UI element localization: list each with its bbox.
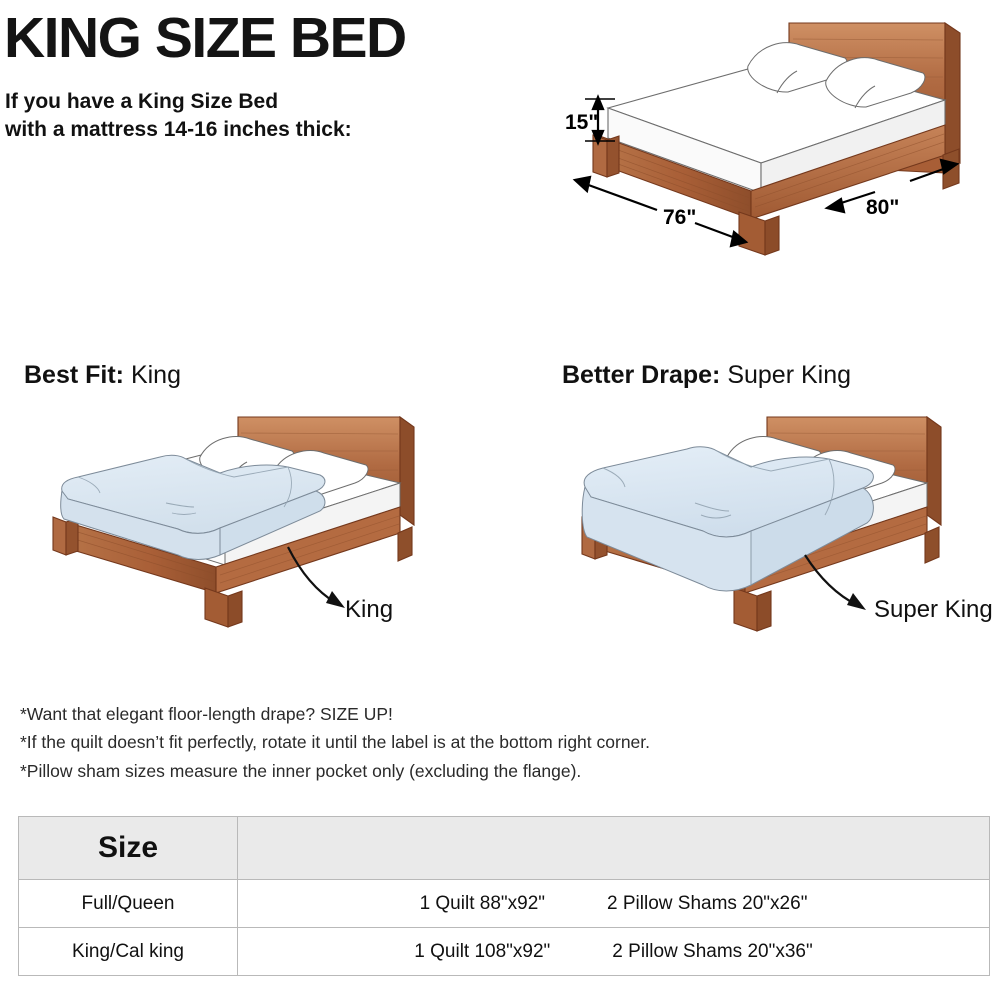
- hero-bed-illustration: [545, 5, 1000, 280]
- table-header-size-cell: Size: [19, 817, 238, 880]
- table-cell-size: King/Cal king: [19, 928, 238, 976]
- table-header-size-label: Size: [98, 831, 158, 864]
- size-chart-table: Size Full/Queen 1 Quilt 88"x92" 2 Pillow…: [18, 816, 990, 976]
- callout-label-super-king: Super King: [874, 596, 993, 624]
- king-bed-dimension-svg: [545, 5, 1000, 280]
- table-cell-size: Full/Queen: [19, 880, 238, 928]
- subtitle-line-2: with a mattress 14-16 inches thick:: [5, 116, 352, 144]
- table-cell-shams: 2 Pillow Shams 20"x26": [607, 893, 807, 915]
- footnote-item: *Want that elegant floor-length drape? S…: [20, 700, 650, 728]
- table-header-row: Size: [19, 817, 990, 880]
- best-fit-heading: Best Fit: King: [24, 363, 181, 388]
- footnote-item: *Pillow sham sizes measure the inner poc…: [20, 757, 650, 785]
- page-subtitle: If you have a King Size Bed with a mattr…: [5, 88, 352, 144]
- best-fit-label: Best Fit:: [24, 361, 124, 389]
- subtitle-line-1: If you have a King Size Bed: [5, 88, 352, 116]
- best-fit-value: King: [124, 361, 181, 389]
- table-cell-quilt: 1 Quilt 108"x92": [414, 941, 550, 963]
- table-row: King/Cal king 1 Quilt 108"x92" 2 Pillow …: [19, 928, 990, 976]
- better-drape-heading: Better Drape: Super King: [562, 363, 851, 388]
- table-cell-details: 1 Quilt 88"x92" 2 Pillow Shams 20"x26": [238, 880, 990, 928]
- best-fit-bed-illustration: [20, 395, 470, 640]
- page-title: KING SIZE BED: [4, 10, 406, 67]
- table-cell-details: 1 Quilt 108"x92" 2 Pillow Shams 20"x36": [238, 928, 990, 976]
- dimension-label-width: 76": [663, 206, 696, 230]
- better-drape-label: Better Drape:: [562, 361, 720, 389]
- better-drape-value: Super King: [720, 361, 851, 389]
- quilt-super-king: [582, 447, 873, 591]
- dimension-label-depth: 80": [866, 196, 899, 220]
- table-cell-shams: 2 Pillow Shams 20"x36": [612, 941, 812, 963]
- king-quilt-bed-svg: [20, 395, 470, 640]
- table-header-details-cell: [238, 817, 990, 880]
- footnotes-list: *Want that elegant floor-length drape? S…: [20, 700, 650, 785]
- footnote-item: *If the quilt doesn’t fit perfectly, rot…: [20, 728, 650, 756]
- table-cell-quilt: 1 Quilt 88"x92": [420, 893, 545, 915]
- dimension-label-height: 15": [565, 111, 598, 135]
- table-row: Full/Queen 1 Quilt 88"x92" 2 Pillow Sham…: [19, 880, 990, 928]
- callout-label-king: King: [345, 596, 393, 624]
